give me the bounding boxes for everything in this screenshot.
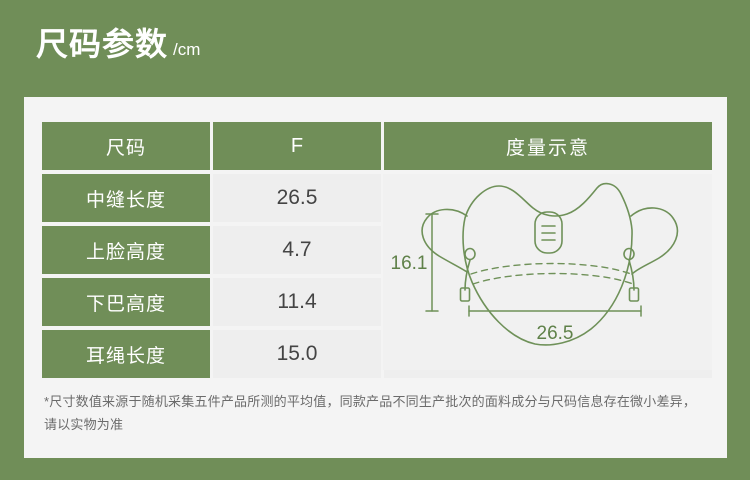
page-title-unit: /cm bbox=[173, 40, 200, 60]
row-value-upper-face-height: 4.7 bbox=[213, 226, 381, 274]
page-title-text: 尺码参数 bbox=[36, 28, 168, 60]
row-label-chin-height: 下巴高度 bbox=[42, 278, 210, 326]
diagram-height-label: 16.1 bbox=[391, 253, 428, 274]
mask-measurement-diagram: 16.1 26.5 bbox=[383, 174, 712, 370]
row-label-seam-length: 中缝长度 bbox=[42, 174, 210, 222]
footnote: *尺寸数值来源于随机采集五件产品所测的平均值，同款产品不同生产批次的面料成分与尺… bbox=[44, 391, 709, 437]
row-label-upper-face-height: 上脸高度 bbox=[42, 226, 210, 274]
table-header-size: 尺码 bbox=[42, 122, 210, 170]
table-header-row: 尺码 F 度量示意 bbox=[42, 122, 712, 170]
row-value-ear-loop-length: 15.0 bbox=[213, 330, 381, 378]
table-header-value: F bbox=[213, 122, 381, 170]
page-title: 尺码参数 /cm bbox=[36, 28, 200, 60]
spec-card: 尺码 F 度量示意 中缝长度 26.5 上脸高度 4.7 下巴高度 11.4 耳… bbox=[24, 97, 727, 458]
diagram-width-label: 26.5 bbox=[537, 323, 574, 344]
size-spec-page: 尺码参数 /cm 尺码 F 度量示意 中缝长度 26.5 上脸高度 4.7 下巴… bbox=[0, 0, 750, 480]
row-value-seam-length: 26.5 bbox=[213, 174, 381, 222]
table-header-diagram: 度量示意 bbox=[384, 122, 712, 170]
row-label-ear-loop-length: 耳绳长度 bbox=[42, 330, 210, 378]
row-value-chin-height: 11.4 bbox=[213, 278, 381, 326]
